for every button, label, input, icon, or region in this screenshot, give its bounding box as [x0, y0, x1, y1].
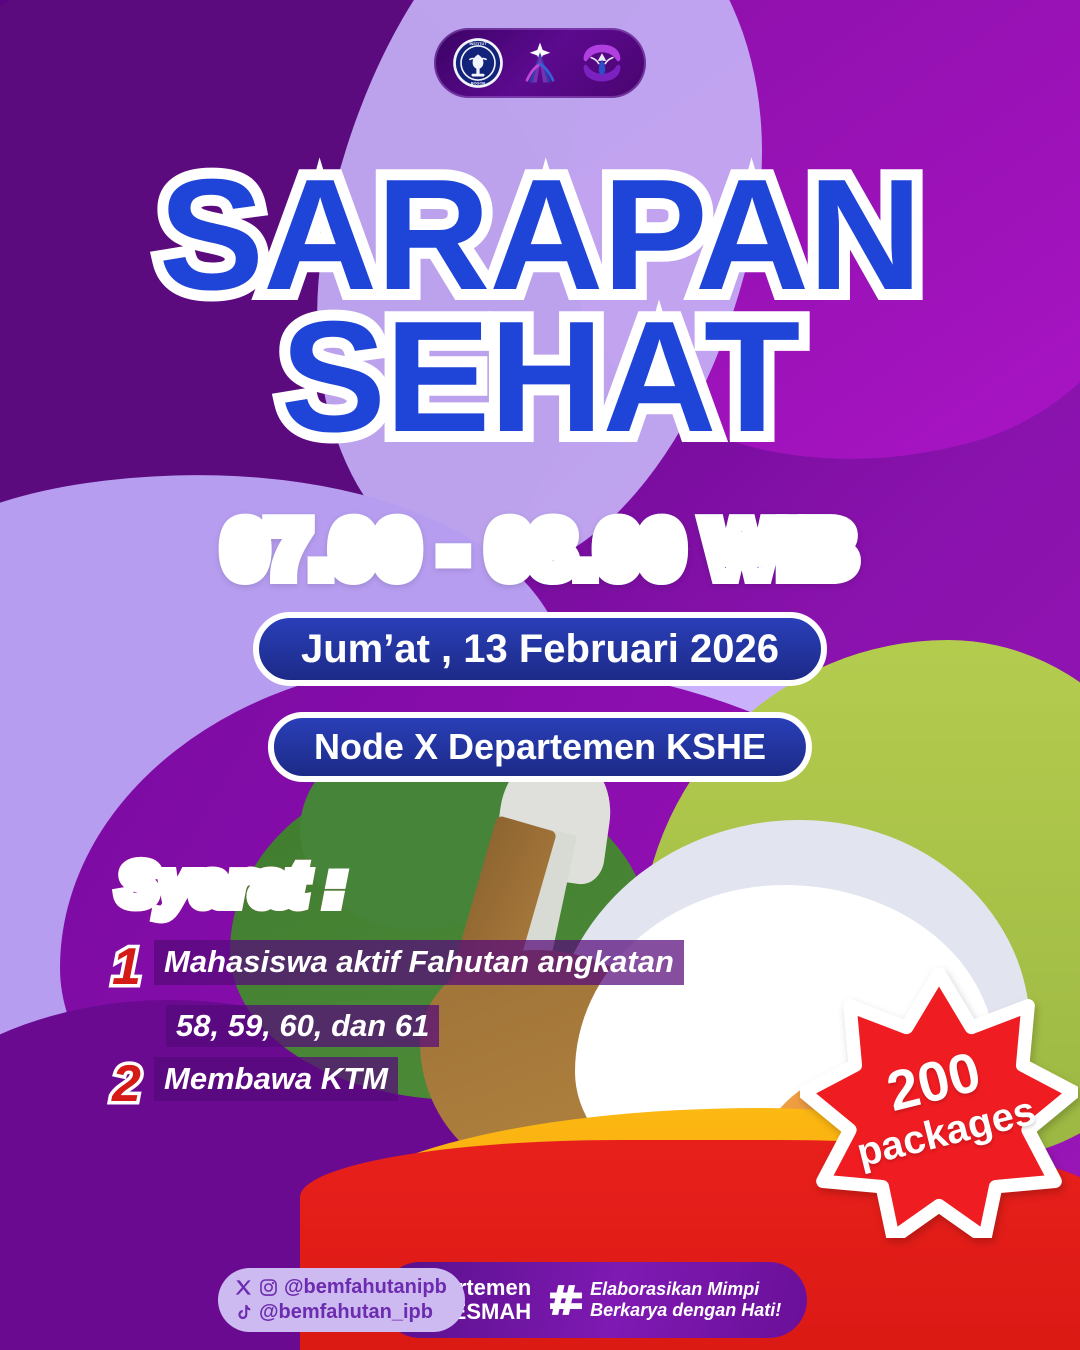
adkesmah-logo [575, 36, 629, 90]
social-handle-instagram: @bemfahutanipb [284, 1276, 447, 1299]
requirement-text: Membawa KTM [154, 1057, 398, 1102]
poster-canvas: INSTITUT BOGOR SARAPAN SEHAT 07.00 - 08.… [0, 0, 1080, 1350]
requirements-list: 1 Mahasiswa aktif Fahutan angkatan 58, 5… [112, 940, 712, 1115]
requirement-item: 1 Mahasiswa aktif Fahutan angkatan [112, 940, 712, 995]
requirements-title: Syarat : [118, 850, 346, 919]
tagline-text: Elaborasikan Mimpi Berkarya dengan Hati! [590, 1279, 781, 1321]
headline: SARAPAN SEHAT [0, 160, 1080, 452]
svg-text:INSTITUT: INSTITUT [470, 42, 488, 46]
social-handle-tiktok: @bemfahutan_ipb [259, 1301, 433, 1324]
hashtag-icon [549, 1283, 583, 1317]
bem-fahutan-logo [513, 36, 567, 90]
requirement-item: 2 Membawa KTM [112, 1057, 712, 1112]
requirement-subtext: 58, 59, 60, dan 61 [166, 1005, 439, 1047]
svg-text:BOGOR: BOGOR [471, 82, 486, 86]
requirement-text: Mahasiswa aktif Fahutan angkatan [154, 940, 684, 985]
headline-line-1: SARAPAN [0, 160, 1080, 310]
headline-line-2: SEHAT [0, 302, 1080, 452]
x-icon [234, 1278, 253, 1297]
social-handles: @bemfahutanipb @bemfahutan_ipb [218, 1268, 465, 1332]
social-row[interactable]: @bemfahutan_ipb [234, 1301, 447, 1324]
logo-bar: INSTITUT BOGOR [434, 28, 646, 98]
tagline-line-1: Elaborasikan Mimpi [590, 1279, 781, 1300]
packages-badge: 200 packages [800, 968, 1078, 1238]
requirement-number: 1 [112, 940, 154, 995]
tiktok-icon [234, 1303, 253, 1322]
ipb-seal-logo: INSTITUT BOGOR [451, 36, 505, 90]
event-location-pill: Node X Departemen KSHE [268, 712, 812, 782]
starburst-icon [800, 968, 1078, 1238]
event-time: 07.00 - 08.00 WIB [0, 504, 1080, 595]
event-date-pill: Jum’at , 13 Februari 2026 [253, 612, 827, 686]
tagline-group: Elaborasikan Mimpi Berkarya dengan Hati! [549, 1279, 781, 1321]
instagram-icon [259, 1278, 278, 1297]
tagline-line-2: Berkarya dengan Hati! [590, 1300, 781, 1321]
social-row[interactable]: @bemfahutanipb [234, 1276, 447, 1299]
requirement-number: 2 [112, 1057, 154, 1112]
